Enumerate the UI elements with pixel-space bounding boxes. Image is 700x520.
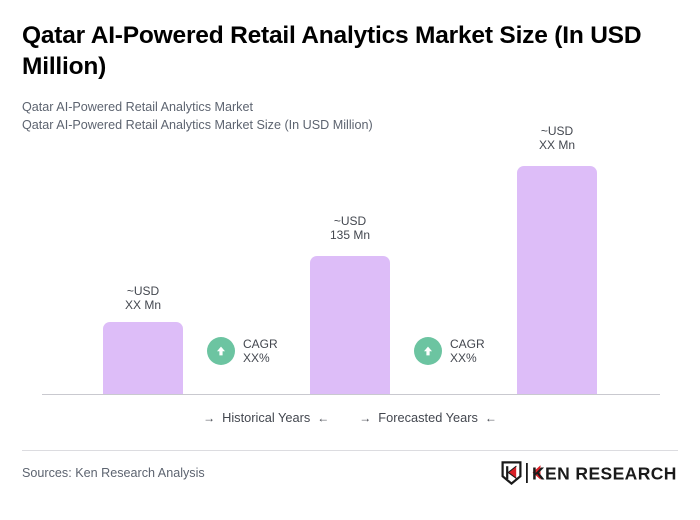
cagr-annotation-2-value: XX%: [450, 351, 477, 365]
ken-research-logo: KEN RESEARCH: [501, 462, 678, 488]
bar-data-label-2-currency: ~USD: [290, 214, 410, 228]
arrow-left-icon: ←: [317, 412, 329, 424]
arrow-up-icon: [207, 337, 235, 365]
arrow-up-icon: [414, 337, 442, 365]
svg-text:KEN RESEARCH: KEN RESEARCH: [532, 463, 677, 483]
cagr-annotation-2: CAGR XX%: [414, 337, 485, 365]
arrow-right-icon: →: [203, 412, 215, 424]
chart-page: Qatar AI-Powered Retail Analytics Market…: [0, 0, 700, 520]
bar-data-label-2-value: 135 Mn: [290, 228, 410, 242]
cagr-annotation-2-text: CAGR XX%: [450, 337, 485, 365]
bar-data-label-3-value: XX Mn: [497, 138, 617, 152]
chart-plot-area: ~USD XX Mn CAGR XX% ~USD 135 Mn: [0, 0, 700, 400]
sources-text: Sources: Ken Research Analysis: [22, 466, 205, 480]
cagr-annotation-1-value: XX%: [243, 351, 270, 365]
ken-research-wordmark: KEN RESEARCH: [526, 462, 678, 489]
arrow-right-icon: →: [359, 412, 371, 424]
footer-divider: [22, 450, 678, 451]
period-legend: → Historical Years ← → Forecasted Years …: [0, 410, 700, 425]
period-legend-item-historical: → Historical Years ←: [203, 410, 329, 425]
bar-1[interactable]: [103, 322, 183, 395]
bar-data-label-1: ~USD XX Mn: [83, 284, 203, 312]
cagr-annotation-2-label: CAGR: [450, 337, 485, 351]
bar-2[interactable]: [310, 256, 390, 395]
period-legend-item-forecasted: → Forecasted Years ←: [359, 410, 497, 425]
axis-baseline: [42, 394, 660, 395]
cagr-annotation-1-label: CAGR: [243, 337, 278, 351]
bar-data-label-3: ~USD XX Mn: [497, 124, 617, 152]
period-legend-label-historical: Historical Years: [222, 410, 310, 425]
bar-3[interactable]: [517, 166, 597, 395]
period-legend-label-forecasted: Forecasted Years: [378, 410, 478, 425]
bar-data-label-1-value: XX Mn: [83, 298, 203, 312]
bar-data-label-1-currency: ~USD: [83, 284, 203, 298]
cagr-annotation-1-text: CAGR XX%: [243, 337, 278, 365]
bar-data-label-3-currency: ~USD: [497, 124, 617, 138]
arrow-left-icon: ←: [485, 412, 497, 424]
ken-research-shield-icon: [501, 461, 522, 490]
cagr-annotation-1: CAGR XX%: [207, 337, 278, 365]
bar-data-label-2: ~USD 135 Mn: [290, 214, 410, 242]
